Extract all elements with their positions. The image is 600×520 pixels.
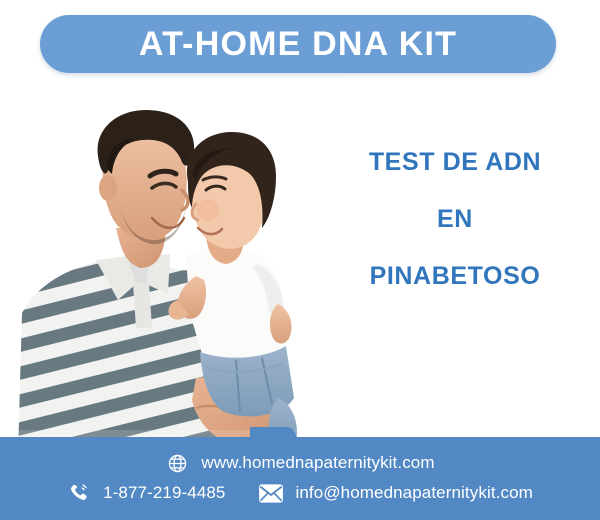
website-text: www.homednapaternitykit.com bbox=[201, 453, 434, 473]
footer-notch bbox=[250, 427, 296, 439]
footer-row-phone-email: 1-877-219-4485 info@homednapaternitykit.… bbox=[0, 481, 600, 505]
contact-phone[interactable]: 1-877-219-4485 bbox=[67, 481, 225, 505]
footer-bar: www.homednapaternitykit.com 1-877-219-44… bbox=[0, 437, 600, 520]
contact-website[interactable]: www.homednapaternitykit.com bbox=[165, 451, 434, 475]
footer-row-website: www.homednapaternitykit.com bbox=[0, 451, 600, 475]
email-text: info@homednapaternitykit.com bbox=[295, 483, 532, 503]
headline-line-1: TEST DE ADN bbox=[330, 150, 580, 175]
phone-text: 1-877-219-4485 bbox=[103, 483, 225, 503]
globe-icon bbox=[165, 451, 189, 475]
envelope-icon bbox=[259, 481, 283, 505]
headline-line-3: PINABETOSO bbox=[330, 264, 580, 289]
phone-icon bbox=[67, 481, 91, 505]
promo-banner: AT-HOME DNA KIT bbox=[0, 0, 600, 520]
page-title: AT-HOME DNA KIT bbox=[139, 27, 457, 61]
header-pill: AT-HOME DNA KIT bbox=[40, 15, 556, 73]
headline-block: TEST DE ADN EN PINABETOSO bbox=[330, 150, 580, 289]
contact-email[interactable]: info@homednapaternitykit.com bbox=[259, 481, 532, 505]
headline-line-2: EN bbox=[330, 207, 580, 232]
father-holding-toddler-photo bbox=[0, 78, 340, 456]
